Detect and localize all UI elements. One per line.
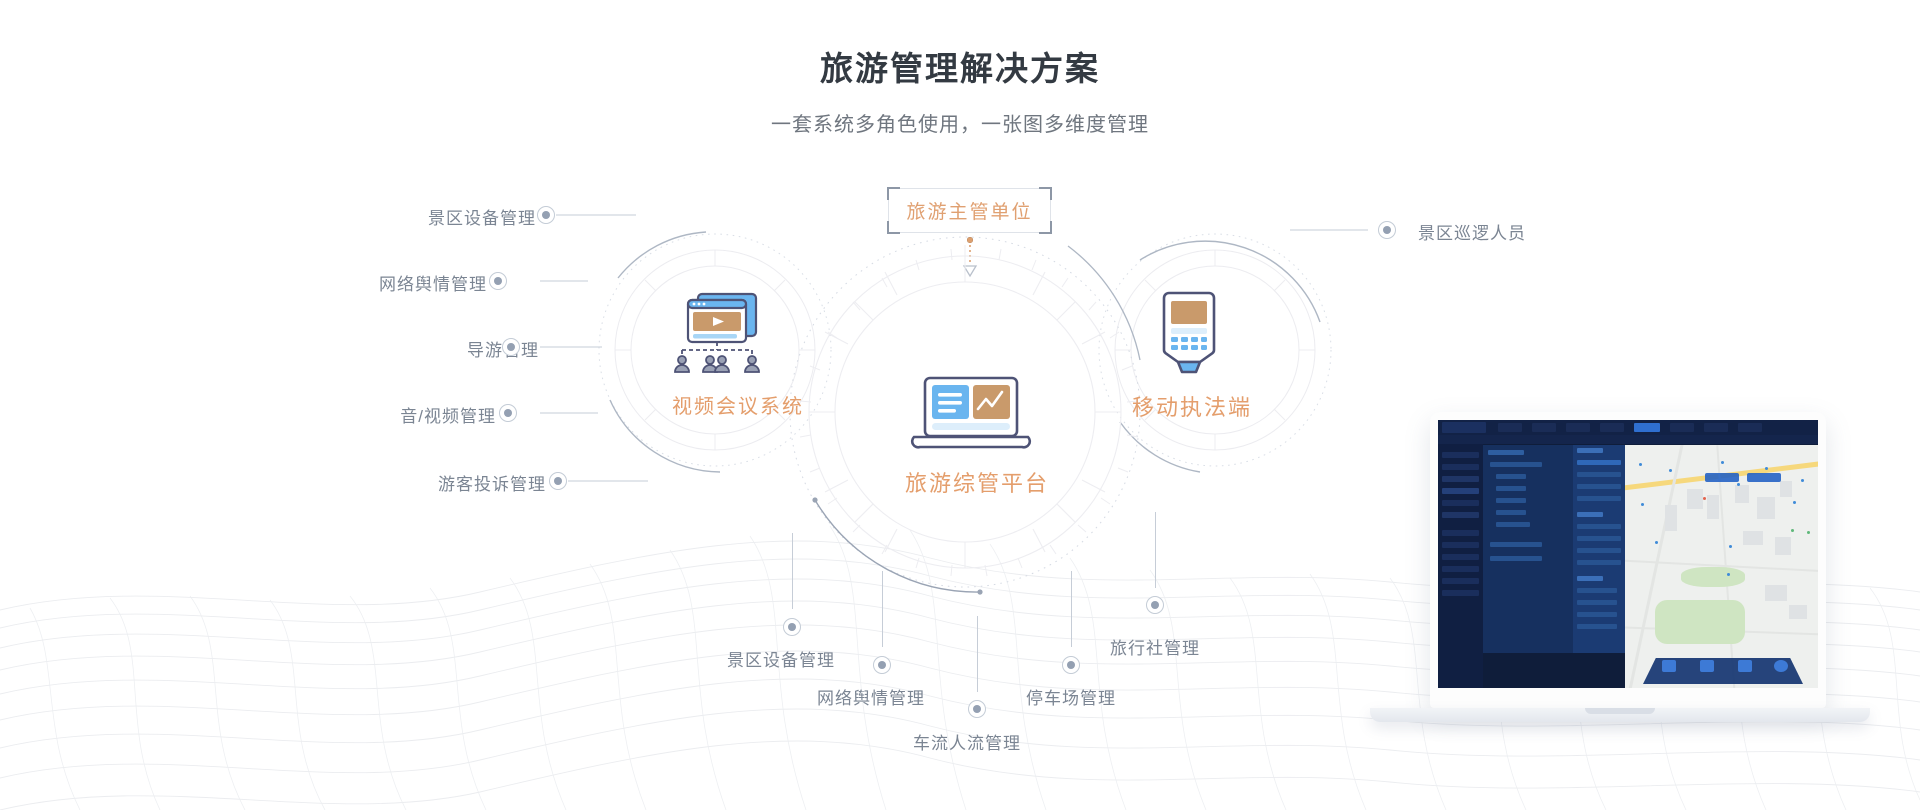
left-node-label-3: 音/视频管理 <box>400 402 496 427</box>
tree-row[interactable] <box>1496 474 1526 479</box>
bottom-node-label-4: 旅行社管理 <box>1110 634 1200 659</box>
layer-group-title <box>1577 512 1603 517</box>
dock-icon-monitor[interactable] <box>1774 660 1788 672</box>
ring-label-platform: 旅游综管平台 <box>905 466 1049 498</box>
bottom-node-dot-0[interactable] <box>783 618 801 636</box>
sidebar-item[interactable] <box>1442 530 1479 536</box>
dashboard-tab[interactable] <box>1670 423 1694 432</box>
layer-row[interactable] <box>1577 560 1621 565</box>
layer-row[interactable] <box>1577 496 1621 501</box>
layer-row[interactable] <box>1577 536 1621 541</box>
dashboard-breadcrumb-bar <box>1438 435 1818 444</box>
tree-row[interactable] <box>1496 510 1526 515</box>
dashboard-tab[interactable] <box>1738 423 1762 432</box>
bottom-node-dot-3[interactable] <box>1062 656 1080 674</box>
tree-row[interactable] <box>1496 498 1526 503</box>
poster-header: 旅游管理解决方案 一套系统多角色使用，一张图多维度管理 <box>0 0 1920 137</box>
dashboard-tab[interactable] <box>1532 423 1556 432</box>
sidebar-item[interactable] <box>1442 452 1479 458</box>
left-node-dot-1[interactable] <box>489 272 507 290</box>
left-node-label-4: 游客投诉管理 <box>438 470 546 495</box>
connector-line <box>1071 571 1072 647</box>
left-node-label-1: 网络舆情管理 <box>379 270 487 295</box>
dock-icon-event[interactable] <box>1700 660 1714 672</box>
tree-row[interactable] <box>1496 486 1526 491</box>
bottom-node-label-1: 网络舆情管理 <box>817 684 925 709</box>
laptop-dashboard-icon <box>906 375 1036 453</box>
dock-icon-device[interactable] <box>1738 660 1752 672</box>
sidebar-item[interactable] <box>1442 464 1479 470</box>
tree-row[interactable] <box>1490 462 1542 467</box>
bottom-node-dot-1[interactable] <box>873 656 891 674</box>
dashboard-screen[interactable] <box>1438 420 1818 688</box>
dashboard-tab[interactable] <box>1498 423 1522 432</box>
dashboard-tab-active[interactable] <box>1634 423 1660 432</box>
sidebar-item[interactable] <box>1442 542 1479 548</box>
product-screenshot-laptop <box>1370 412 1870 762</box>
bottom-node-dot-4[interactable] <box>1146 596 1164 614</box>
map-view-toggle[interactable] <box>1747 473 1781 482</box>
poster-canvas: 旅游管理解决方案 一套系统多角色使用，一张图多维度管理 旅游主管单位 <box>0 0 1920 810</box>
dashboard-map-canvas[interactable] <box>1625 445 1818 688</box>
laptop-lid <box>1430 412 1826 708</box>
left-node-dot-4[interactable] <box>549 472 567 490</box>
layer-row[interactable] <box>1577 524 1621 529</box>
tree-row[interactable] <box>1490 556 1542 561</box>
dashboard-tab[interactable] <box>1600 423 1624 432</box>
layer-row[interactable] <box>1577 484 1621 489</box>
connector-line <box>792 533 793 609</box>
layer-row[interactable] <box>1577 612 1617 617</box>
dashboard-logo <box>1442 422 1486 433</box>
layer-group-title <box>1577 448 1603 453</box>
layer-row-active[interactable] <box>1577 460 1621 465</box>
left-node-label-0: 景区设备管理 <box>428 204 536 229</box>
page-title: 旅游管理解决方案 <box>0 0 1920 90</box>
sidebar-item[interactable] <box>1442 566 1479 572</box>
layer-group-title <box>1577 576 1603 581</box>
layer-row[interactable] <box>1577 588 1617 593</box>
map-basemap-select[interactable] <box>1705 473 1739 482</box>
connector-line <box>1155 512 1156 588</box>
connector-line <box>977 616 978 692</box>
bottom-node-label-2: 车流人流管理 <box>913 729 1021 754</box>
tree-row[interactable] <box>1488 450 1524 455</box>
sidebar-item[interactable] <box>1442 500 1479 506</box>
ring-label-mobile: 移动执法端 <box>1132 390 1252 422</box>
bottom-node-label-0: 景区设备管理 <box>727 646 835 671</box>
left-node-dot-2[interactable] <box>502 338 520 356</box>
layer-row[interactable] <box>1577 472 1621 477</box>
sidebar-item[interactable] <box>1442 554 1479 560</box>
page-subtitle: 一套系统多角色使用，一张图多维度管理 <box>0 90 1920 137</box>
sidebar-item-active[interactable] <box>1442 488 1479 494</box>
bottom-node-label-3: 停车场管理 <box>1026 684 1116 709</box>
layer-row[interactable] <box>1577 600 1617 605</box>
laptop-trackpad-notch <box>1585 708 1655 714</box>
dashboard-tab[interactable] <box>1704 423 1728 432</box>
connector-line <box>882 571 883 647</box>
sidebar-item[interactable] <box>1442 512 1479 518</box>
layer-row[interactable] <box>1577 548 1621 553</box>
sidebar-item[interactable] <box>1442 476 1479 482</box>
sidebar-item[interactable] <box>1442 578 1479 584</box>
bottom-node-dot-2[interactable] <box>968 700 986 718</box>
left-node-dot-0[interactable] <box>537 206 555 224</box>
dashboard-tab[interactable] <box>1566 423 1590 432</box>
tree-row[interactable] <box>1496 522 1530 527</box>
handheld-terminal-icon <box>1148 290 1230 380</box>
tree-row[interactable] <box>1490 542 1542 547</box>
left-leader-lines <box>540 190 740 520</box>
layer-row[interactable] <box>1577 624 1617 629</box>
left-node-dot-3[interactable] <box>499 404 517 422</box>
dock-icon-command-center[interactable] <box>1662 660 1676 672</box>
right-node-dot-0[interactable] <box>1378 221 1396 239</box>
sidebar-item[interactable] <box>1442 590 1479 596</box>
right-node-label-0: 景区巡逻人员 <box>1418 219 1526 244</box>
